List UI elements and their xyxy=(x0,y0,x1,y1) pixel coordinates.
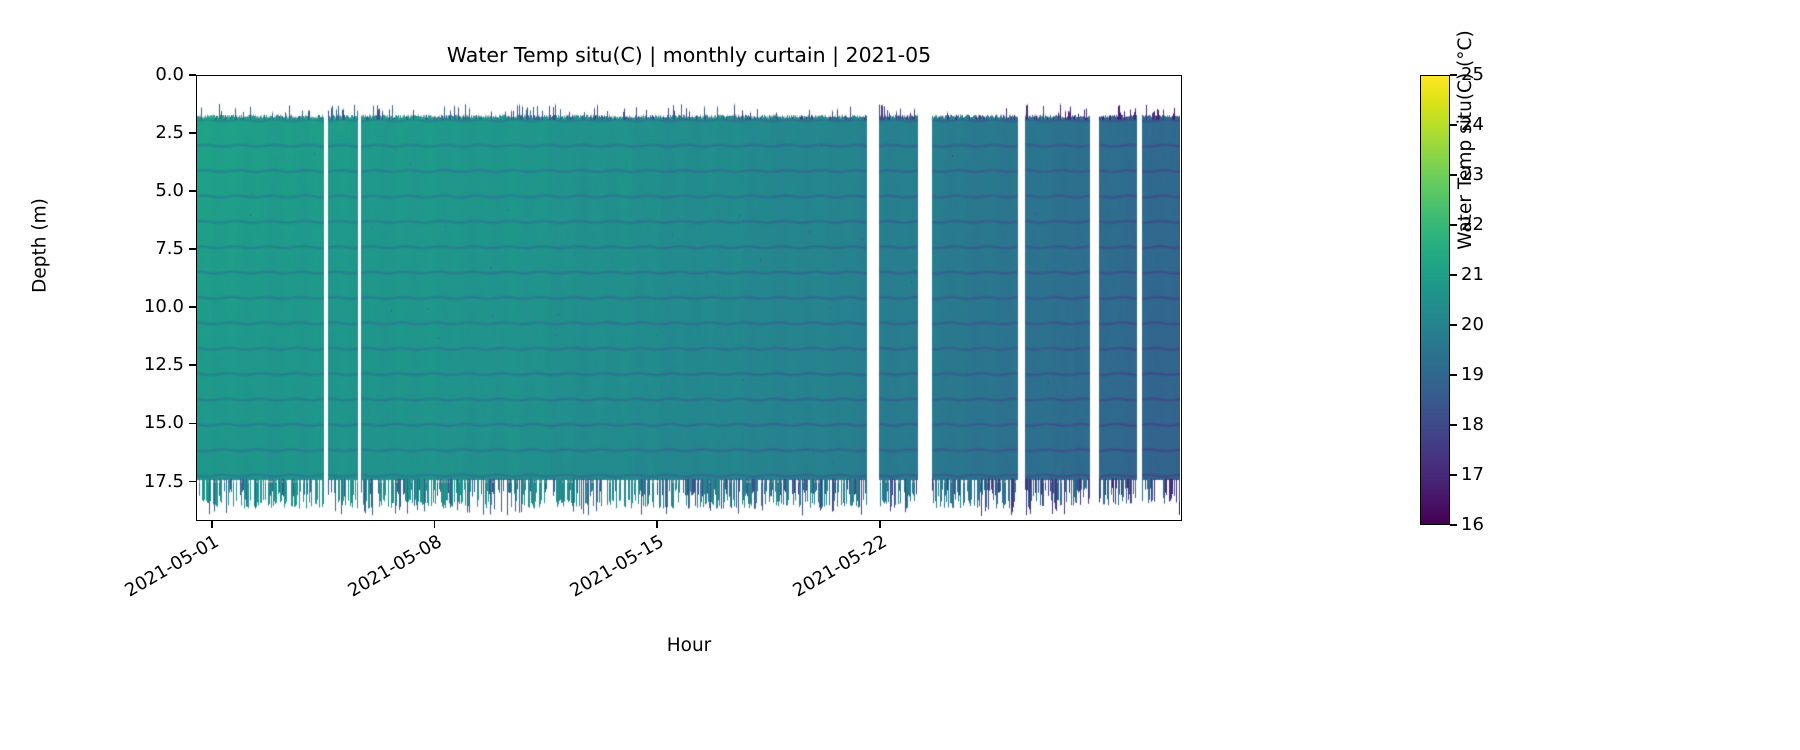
page-title: Water Temp situ(C) | monthly curtain | 2… xyxy=(196,42,1182,68)
y-axis-label: Depth (m) xyxy=(30,166,51,326)
x-axis-tick-label: 2021-05-15 xyxy=(548,531,668,613)
y-axis-tick-label: 7.5 xyxy=(155,238,184,260)
y-axis-tick-label: 12.5 xyxy=(144,354,184,376)
x-axis: Hour 2021-05-012021-05-082021-05-152021-… xyxy=(196,521,1182,671)
colorbar-tick-label: 19 xyxy=(1461,363,1484,386)
y-axis-tick-label: 15.0 xyxy=(144,412,184,434)
tick-mark-icon xyxy=(189,74,196,76)
x-axis-tick-label: 2021-05-08 xyxy=(325,531,445,613)
tick-mark-icon xyxy=(1450,474,1457,476)
x-axis-tick-label: 2021-05-01 xyxy=(103,531,223,613)
tick-mark-icon xyxy=(189,364,196,366)
y-axis-tick-label: 2.5 xyxy=(155,122,184,144)
y-axis-tick-label: 17.5 xyxy=(144,471,184,493)
tick-mark-icon xyxy=(189,132,196,134)
tick-mark-icon xyxy=(434,521,436,528)
heatmap-axes xyxy=(196,75,1182,521)
tick-mark-icon xyxy=(1450,324,1457,326)
y-axis-tick-label: 5.0 xyxy=(155,180,184,202)
colorbar-label: Water Temp situ(C) (°C) xyxy=(1455,0,1476,300)
x-axis-tick-label: 2021-05-22 xyxy=(771,531,891,613)
colorbar xyxy=(1420,75,1450,525)
colorbar-tick-label: 20 xyxy=(1461,313,1484,336)
tick-mark-icon xyxy=(656,521,658,528)
colorbar-tick-label: 16 xyxy=(1461,513,1484,536)
y-axis-tick-label: 0.0 xyxy=(155,64,184,86)
tick-mark-icon xyxy=(1450,424,1457,426)
y-axis-tick-label: 10.0 xyxy=(144,296,184,318)
x-axis-label: Hour xyxy=(196,635,1182,656)
figure-canvas: Water Temp situ(C) | monthly curtain | 2… xyxy=(0,0,1800,750)
y-axis: Depth (m) 0.02.55.07.510.012.515.017.5 xyxy=(0,75,196,521)
colorbar-gradient xyxy=(1421,76,1449,524)
tick-mark-icon xyxy=(189,306,196,308)
colorbar-tick-label: 17 xyxy=(1461,463,1484,486)
tick-mark-icon xyxy=(1450,524,1457,526)
tick-mark-icon xyxy=(189,481,196,483)
tick-mark-icon xyxy=(211,521,213,528)
colorbar-tick-label: 18 xyxy=(1461,413,1484,436)
tick-mark-icon xyxy=(189,190,196,192)
tick-mark-icon xyxy=(879,521,881,528)
heatmap-plot-area xyxy=(197,76,1180,519)
tick-mark-icon xyxy=(189,248,196,250)
tick-mark-icon xyxy=(189,423,196,425)
tick-mark-icon xyxy=(1450,374,1457,376)
